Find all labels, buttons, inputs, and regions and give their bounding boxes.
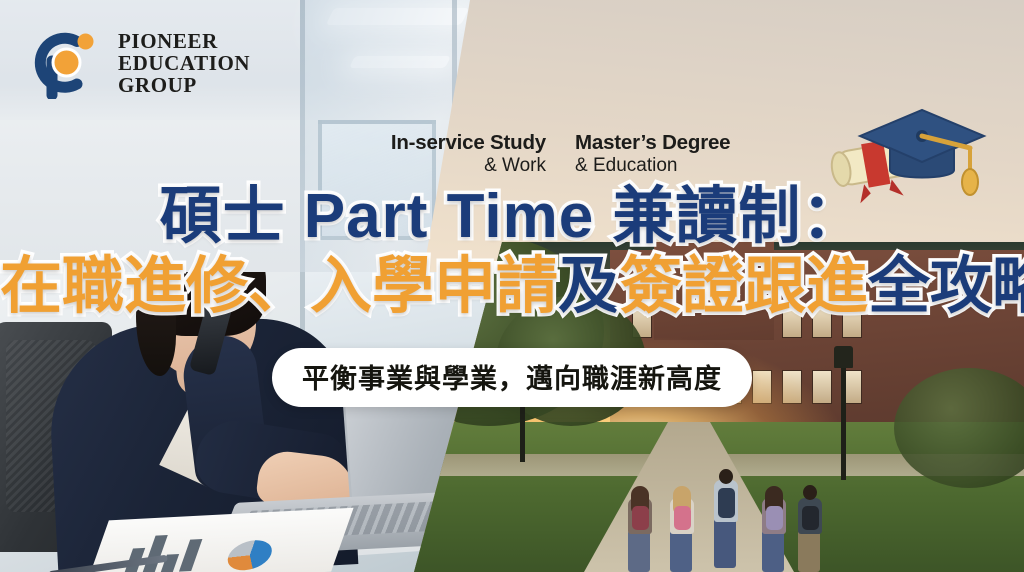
headline-run: 全攻略 [868, 252, 1024, 321]
paper-pie-chart [223, 539, 276, 571]
headline: 碩士 Part Time 兼讀制： 在職進修、入學申請及簽證跟進全攻略 [0, 186, 1024, 318]
headline-line-2: 在職進修、入學申請及簽證跟進全攻略 [0, 256, 1024, 318]
tagline-right-line2: & Education [575, 155, 795, 177]
brand-line-2: EDUCATION [118, 52, 250, 74]
subtitle-text: 平衡事業與學業，邁向職涯新高度 [302, 364, 722, 394]
headline-run: 簽證跟進 [620, 252, 868, 321]
tagline-masters-degree: Master’s Degree & Education [575, 131, 795, 177]
tagline-right-line1: Master’s Degree [575, 131, 795, 155]
headline-line-1: 碩士 Part Time 兼讀制： [0, 186, 1024, 248]
pioneer-circular-p-logo-icon [33, 27, 105, 99]
brand-logo[interactable]: PIONEER EDUCATION GROUP [33, 27, 250, 99]
banner-root: PIONEER EDUCATION GROUP In-service Study… [0, 0, 1024, 572]
paper-chart-bar [179, 539, 202, 572]
tagline-left-line1: In-service Study [360, 131, 546, 155]
tagline-left-line2: & Work [360, 155, 546, 177]
headline-run: 在職進修、入學申請 [0, 252, 558, 321]
street-lamp [841, 362, 846, 480]
headline-run: 碩士 Part Time 兼讀制： [160, 182, 865, 251]
subtitle-pill: 平衡事業與學業，邁向職涯新高度 [272, 348, 752, 407]
brand-line-1: PIONEER [118, 30, 250, 52]
headline-run: 及 [558, 252, 620, 321]
brand-wordmark: PIONEER EDUCATION GROUP [118, 30, 250, 97]
brand-line-3: GROUP [118, 74, 250, 96]
tagline-in-service-study: In-service Study & Work [360, 131, 546, 177]
